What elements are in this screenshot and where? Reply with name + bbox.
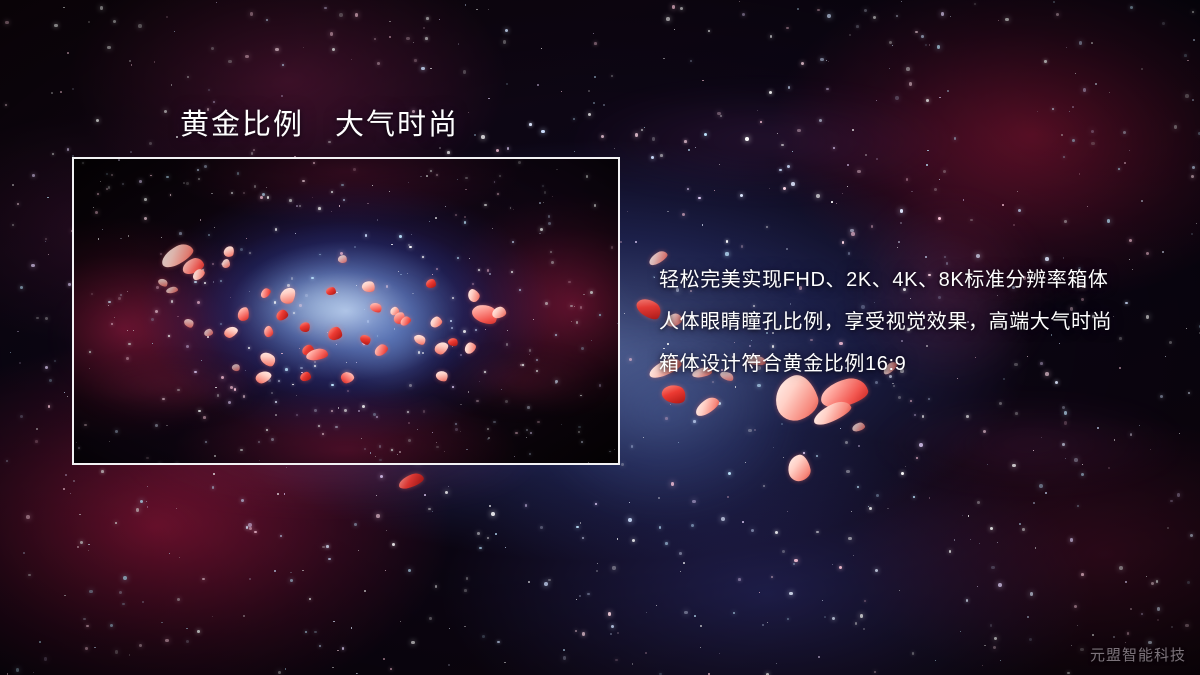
body-line-2: 人体眼睛瞳孔比例，享受视觉效果，高端大气时尚 — [659, 301, 1159, 343]
body-line-3: 箱体设计符合黄金比例16:9 — [659, 343, 1159, 385]
image-panel-vignette — [74, 159, 618, 463]
body-line-1: 轻松完美实现FHD、2K、4K、8K标准分辨率箱体 — [659, 259, 1159, 301]
slide-canvas: 黄金比例 大气时尚 轻松完美实现FHD、2K、4K、8K标准分辨率箱体 人体眼睛… — [0, 0, 1200, 675]
watermark: 元盟智能科技 — [1090, 644, 1186, 665]
page-title: 黄金比例 大气时尚 — [180, 101, 459, 143]
body-copy-block: 轻松完美实现FHD、2K、4K、8K标准分辨率箱体 人体眼睛瞳孔比例，享受视觉效… — [659, 259, 1159, 385]
image-panel-frame — [72, 157, 620, 465]
